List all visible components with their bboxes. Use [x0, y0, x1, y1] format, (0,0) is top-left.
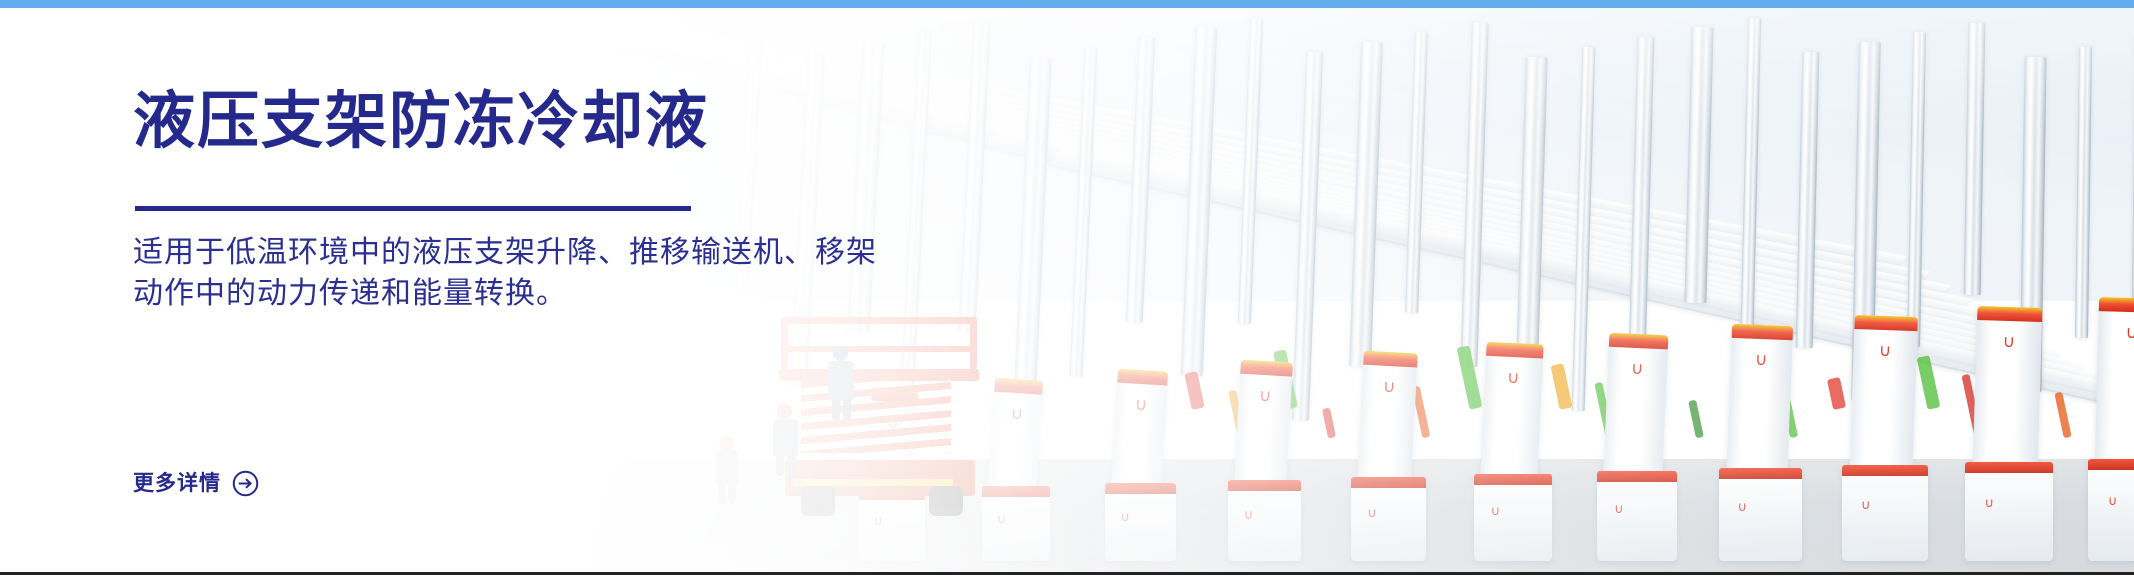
subtitle-line-1: 适用于低温环境中的液压支架升降、推移输送机、移架 [133, 232, 877, 273]
top-accent-rule [0, 0, 2134, 8]
product-hero-banner: ∪∪∪∪∪∪∪∪∪∪∪ ∪∪∪∪∪∪∪∪∪∪∪ [0, 0, 2134, 580]
banner-content: 液压支架防冻冷却液 适用于低温环境中的液压支架升降、推移输送机、移架 动作中的动… [133, 0, 1133, 580]
title-underline [135, 206, 691, 211]
circle-arrow-right-icon [232, 470, 259, 497]
page-title: 液压支架防冻冷却液 [133, 88, 709, 156]
subtitle-line-2: 动作中的动力传递和能量转换。 [133, 273, 877, 314]
banner-subtitle: 适用于低温环境中的液压支架升降、推移输送机、移架 动作中的动力传递和能量转换。 [133, 232, 877, 314]
more-details-link[interactable]: 更多详情 [133, 470, 259, 497]
bottom-divider-rule [0, 572, 2134, 575]
more-details-label: 更多详情 [133, 471, 221, 497]
